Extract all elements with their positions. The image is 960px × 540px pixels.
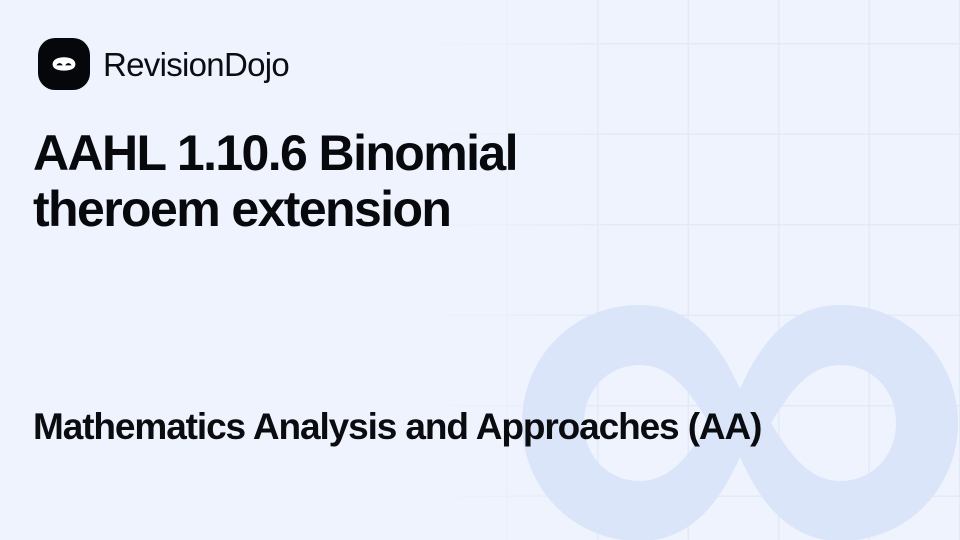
page-subtitle: Mathematics Analysis and Approaches (AA) — [33, 406, 913, 447]
brand-lockup: RevisionDojo — [38, 38, 289, 90]
title-card: RevisionDojo AAHL 1.10.6 Binomial theroe… — [0, 0, 960, 540]
brand-name: RevisionDojo — [103, 48, 289, 81]
ninja-mask-icon — [38, 38, 90, 90]
page-title: AAHL 1.10.6 Binomial theroem extension — [33, 126, 613, 238]
